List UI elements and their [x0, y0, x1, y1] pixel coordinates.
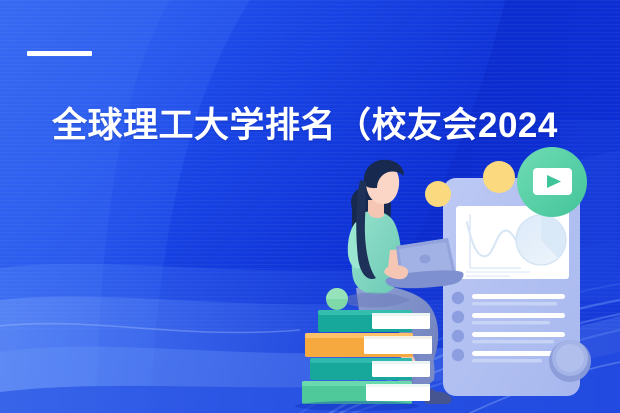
page-title: 全球理工大学排名（校友会2024 — [52, 104, 558, 148]
yellow-dot-small — [425, 181, 451, 207]
accent-dash — [27, 51, 92, 56]
study-analytics-illustration — [0, 0, 620, 413]
gray-circle-badge — [549, 340, 591, 382]
play-button-badge — [517, 147, 587, 217]
yellow-dot-large — [483, 161, 515, 193]
banner-image: 全球理工大学排名（校友会2024 — [0, 0, 620, 413]
